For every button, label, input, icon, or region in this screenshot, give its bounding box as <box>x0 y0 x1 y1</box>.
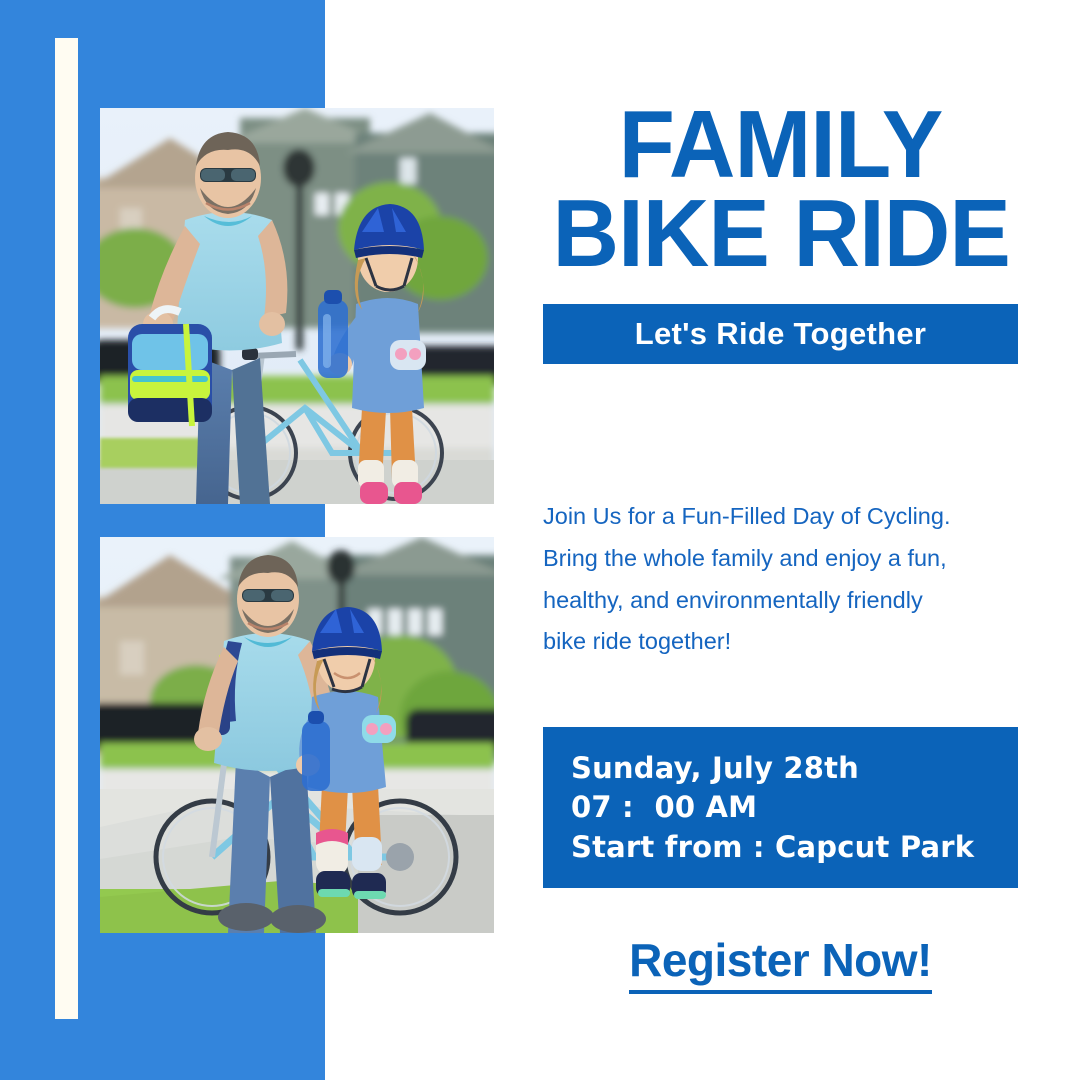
subtitle-band: Let's Ride Together <box>543 304 1018 364</box>
photo-2-illustration <box>100 537 494 933</box>
body-line-4: bike ride together! <box>543 621 1015 663</box>
headline-line-2: BIKE RIDE <box>553 189 1009 278</box>
cta-block: Register Now! <box>543 933 1018 994</box>
register-now-link[interactable]: Register Now! <box>629 933 932 994</box>
event-details-box: Sunday, July 28th 07 : 00 AM Start from … <box>543 727 1018 888</box>
subtitle-text: Let's Ride Together <box>635 316 927 352</box>
body-line-3: healthy, and environmentally friendly <box>543 580 1015 622</box>
event-location: Start from : Capcut Park <box>571 828 1018 867</box>
event-date: Sunday, July 28th <box>571 749 1018 788</box>
headline-block: FAMILY BIKE RIDE <box>543 100 1018 279</box>
cream-vertical-stripe <box>55 38 78 1019</box>
photo-1-illustration <box>100 108 494 504</box>
body-copy: Join Us for a Fun-Filled Day of Cycling.… <box>543 496 1015 663</box>
photo-father-and-child-with-backpack <box>100 108 494 504</box>
body-line-2: Bring the whole family and enjoy a fun, <box>543 538 1015 580</box>
event-time: 07 : 00 AM <box>571 788 1018 827</box>
poster-canvas: FAMILY BIKE RIDE Let's Ride Together Joi… <box>0 0 1080 1080</box>
content-column: FAMILY BIKE RIDE Let's Ride Together Joi… <box>543 0 1018 1080</box>
photo-father-hugging-child-by-bike <box>100 537 494 933</box>
body-line-1: Join Us for a Fun-Filled Day of Cycling. <box>543 496 1015 538</box>
headline-line-1: FAMILY <box>553 100 1009 189</box>
